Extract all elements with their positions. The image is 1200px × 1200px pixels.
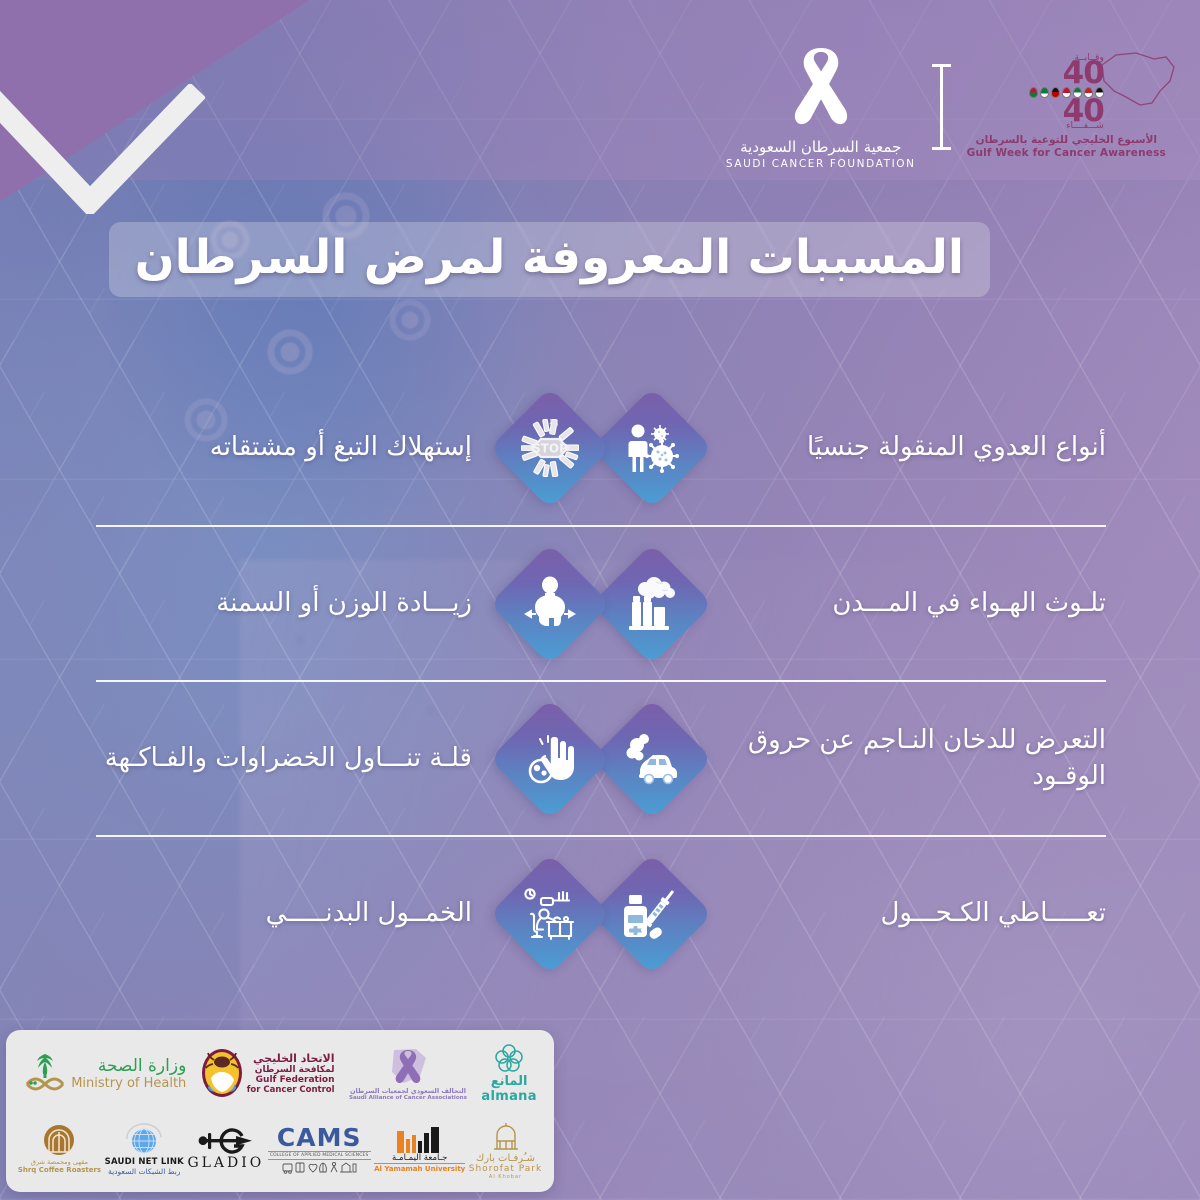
bar-chart-icon [395, 1125, 445, 1153]
car-exhaust-smoke-icon [623, 731, 681, 787]
sponsor-ministry-of-health[interactable]: وزارة الصحة Ministry of Health [23, 1052, 186, 1094]
coffee-arch-icon [41, 1124, 77, 1158]
page-title-plate: المسببات المعروفة لمرض السرطان [109, 222, 990, 297]
cause-icons [478, 561, 724, 647]
arabian-peninsula-outline-icon [1096, 47, 1180, 109]
shrq-arabic: مقهى ومحمصة شرق [31, 1158, 88, 1166]
cause-label-right: إستهلاك التبغ أو مشتقاته [96, 430, 478, 465]
sponsors-row-2: شـُرفـات بارك Shorofat Park Al Khobar [16, 1113, 544, 1185]
snl-english: SAUDI NET LINK [105, 1157, 184, 1167]
gulf-week-numbers: وقــايــة 40 40 شـــفــــاء [1029, 55, 1104, 130]
badge-no-fruit-veg[interactable] [489, 698, 611, 820]
cause-row: أنواع العدوي المنقولة جنسيًا [96, 370, 1106, 525]
causes-list: أنواع العدوي المنقولة جنسيًا [96, 370, 1106, 990]
arch-monument-icon [489, 1119, 523, 1153]
almana-arabic: المانع [491, 1074, 528, 1089]
scf-arabic-name: جمعية السرطان السعودية [740, 138, 901, 156]
badge-infection[interactable] [591, 387, 713, 509]
scf-english-name: SAUDI CANCER FOUNDATION [726, 158, 916, 170]
flag-5 [1051, 87, 1060, 98]
obesity-body-measure-icon [522, 576, 578, 632]
sponsor-saudi-net-link[interactable]: SAUDI NET LINK ربط الشبكات السعودية [105, 1123, 184, 1176]
cause-icons: STOP [478, 405, 724, 491]
no-junk-food-hand-icon [522, 731, 578, 787]
infographic-poster: وقــايــة 40 40 شـــفــــاء الأسبوع [0, 0, 1200, 1200]
gulf-week-arabic-small-bottom: شـــفــــاء [1066, 123, 1104, 130]
cause-label-left: تلـوث الهـواء في المـــدن [724, 586, 1106, 621]
moh-arabic: وزارة الصحة [71, 1056, 186, 1076]
no-smoking-stop-sign-icon: STOP [521, 419, 579, 477]
sponsor-al-yamamah-university[interactable]: جـامعة اليمـامـة Al Yamamah University [374, 1125, 465, 1173]
factory-air-pollution-icon [624, 576, 680, 632]
flower-rosette-icon [489, 1042, 529, 1074]
cause-label-left: أنواع العدوي المنقولة جنسيًا [724, 430, 1106, 465]
medical-pictograms-icon [281, 1160, 357, 1174]
moh-english: Ministry of Health [71, 1076, 186, 1091]
gulf-fed-arabic-1: الاتحاد الخليجي [247, 1052, 335, 1065]
sponsors-panel: المانع almana التحالف السعودي لجمعيات ال… [6, 1030, 554, 1192]
gulf-week-logo: وقــايــة 40 40 شـــفــــاء الأسبوع [967, 55, 1182, 160]
alcohol-drugs-syringe-icon [623, 885, 681, 943]
snl-arabic: ربط الشبكات السعودية [108, 1167, 180, 1176]
palm-swords-icon [23, 1052, 67, 1094]
cams-wordmark: CAMS [277, 1125, 362, 1150]
cause-label-right: الخمــول البدنـــــي [96, 896, 478, 931]
shorofat-arabic: شـُرفـات بارك [476, 1153, 535, 1164]
badge-obesity[interactable] [489, 543, 611, 665]
cause-label-right: زيـــادة الوزن أو السمنة [96, 586, 478, 621]
saudi-alliance-arabic: التحالف السعودي لجمعيات السرطان [350, 1087, 466, 1095]
gulf-week-english-name: Gulf Week for Cancer Awareness [967, 147, 1166, 159]
cause-row: تلـوث الهـواء في المـــدن [96, 525, 1106, 680]
infection-virus-person-icon [624, 420, 680, 476]
crab-emblem-icon [201, 1048, 243, 1098]
stop-sign-text: STOP [532, 441, 568, 455]
flag-7 [1029, 87, 1038, 98]
gulf-fed-english-2: for Cancer Control [247, 1085, 335, 1095]
cause-label-left: التعرض للدخان النـاجم عن حروق الوقـود [724, 723, 1106, 793]
shrq-english: Shrq Coffee Roasters [18, 1166, 101, 1174]
sponsors-row-1: المانع almana التحالف السعودي لجمعيات ال… [16, 1037, 544, 1109]
sponsor-shorofat-park[interactable]: شـُرفـات بارك Shorofat Park Al Khobar [469, 1119, 542, 1180]
ribbon-icon [790, 44, 852, 132]
badge-sedentary[interactable] [489, 853, 611, 975]
globe-sphere-icon [123, 1123, 165, 1157]
sponsor-gladio[interactable]: GLADIO [187, 1127, 264, 1171]
brand-bar: وقــايــة 40 40 شـــفــــاء الأسبوع [726, 44, 1182, 170]
saudi-alliance-english: Saudi Alliance of Cancer Associations [349, 1095, 467, 1101]
gulf-fed-arabic-2: لمكافحة السرطان [247, 1065, 335, 1075]
shorofat-sub: Al Khobar [489, 1174, 522, 1180]
badge-car-exhaust[interactable] [591, 698, 713, 820]
almana-english: almana [481, 1089, 536, 1104]
gulf-fed-english-1: Gulf Federation [247, 1075, 335, 1085]
header-divider [940, 64, 943, 150]
cams-subtitle: COLLEGE OF APPLIED MEDICAL SCIENCES [268, 1151, 371, 1160]
saudi-cancer-foundation-logo: جمعية السرطان السعودية SAUDI CANCER FOUN… [726, 44, 916, 170]
cause-icons [478, 716, 724, 802]
cause-row: التعرض للدخان النـاجم عن حروق الوقـود [96, 680, 1106, 835]
cause-label-left: تعـــــاطي الكـحـــول [724, 896, 1106, 931]
sedentary-desk-worker-icon [521, 886, 579, 942]
sponsor-almana[interactable]: المانع almana [481, 1042, 536, 1104]
badge-air-pollution[interactable] [591, 543, 713, 665]
sword-g-icon [196, 1127, 256, 1155]
shorofat-english: Shorofat Park [469, 1164, 542, 1174]
badge-tobacco[interactable]: STOP [489, 387, 611, 509]
cause-label-right: قلـة تنـــاول الخضراوات والفـاكـهة [96, 741, 478, 776]
sponsor-shrq-coffee[interactable]: مقهى ومحمصة شرق Shrq Coffee Roasters [18, 1124, 101, 1174]
sponsor-cams[interactable]: CAMS COLLEGE OF APPLIED MEDICAL SCIENCES [268, 1125, 371, 1174]
cause-icons [478, 871, 724, 957]
flag-6 [1040, 87, 1049, 98]
purple-ribbon-icon [386, 1046, 430, 1086]
cause-row: تعـــــاطي الكـحـــول [96, 835, 1106, 990]
sponsor-saudi-alliance[interactable]: التحالف السعودي لجمعيات السرطان Saudi Al… [349, 1046, 467, 1101]
yamamah-arabic: جـامعة اليمـامـة [392, 1153, 447, 1163]
badge-alcohol-drugs[interactable] [591, 853, 713, 975]
gulf-week-arabic-name: الأسبوع الخليجي للتوعية بالسرطان [976, 134, 1157, 146]
gladio-wordmark: GLADIO [187, 1155, 264, 1171]
yamamah-english: Al Yamamah University [374, 1163, 465, 1173]
corner-white-chevron-icon [0, 84, 205, 214]
page-title: المسببات المعروفة لمرض السرطان [135, 230, 964, 285]
gulf-week-mark: وقــايــة 40 40 شـــفــــاء [1029, 55, 1104, 130]
sponsor-gulf-federation[interactable]: الاتحاد الخليجي لمكافحة السرطان Gulf Fed… [201, 1048, 335, 1098]
